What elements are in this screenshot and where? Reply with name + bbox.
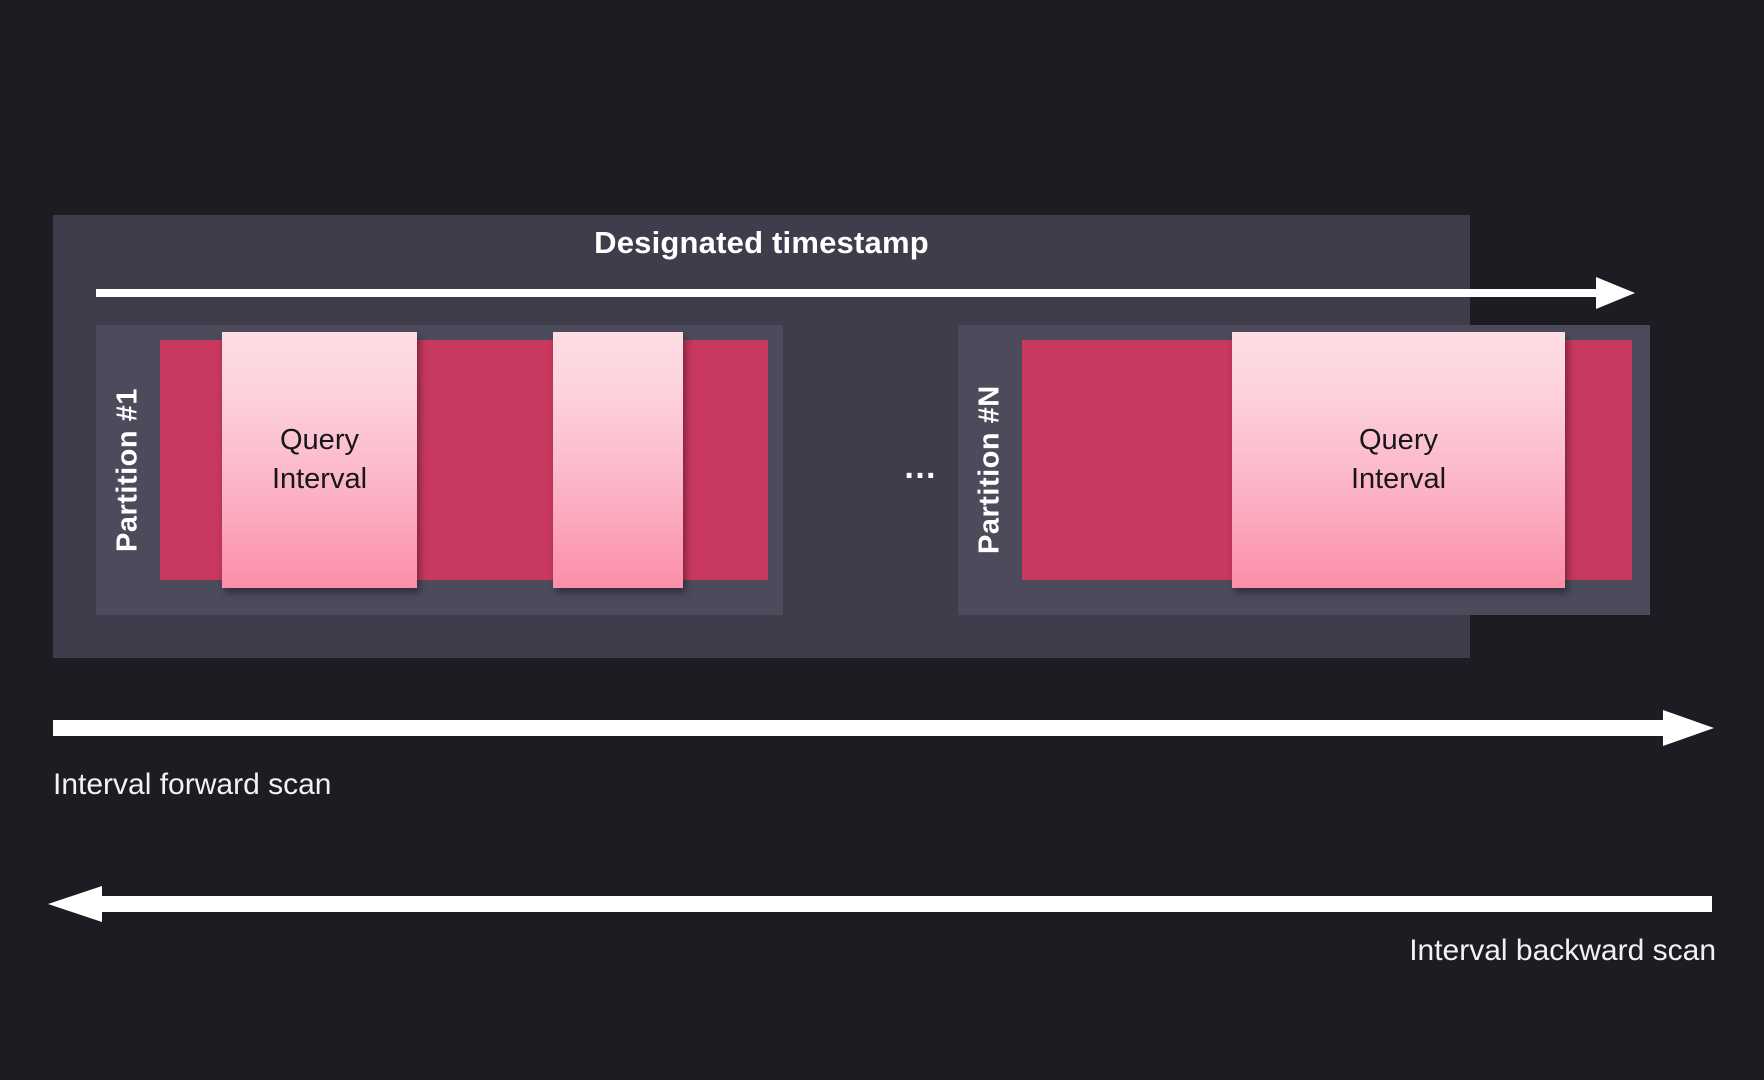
partition-1-band-dark-3 <box>683 340 768 580</box>
partitions-ellipsis: … <box>870 450 970 484</box>
designated-timestamp-arrow-right-icon <box>96 277 1635 309</box>
query-interval-line1: Query <box>1359 421 1438 460</box>
partition-1-query-interval-label: Query Interval <box>222 332 417 588</box>
query-interval-line1: Query <box>280 421 359 460</box>
partition-1: Partition #1 Query Interval <box>96 325 783 615</box>
interval-forward-scan-label: Interval forward scan <box>53 768 331 802</box>
partition-1-label: Partition #1 <box>96 325 160 615</box>
interval-forward-scan-arrow-right-icon <box>53 710 1714 746</box>
partition-n: Partition #N Query Interval <box>958 325 1650 615</box>
page-title: Designated timestamp <box>53 225 1470 261</box>
partition-n-query-interval-label: Query Interval <box>1232 332 1565 588</box>
query-interval-line2: Interval <box>272 460 367 499</box>
designated-timestamp-panel: Designated timestamp Partition #1 Query … <box>53 215 1470 658</box>
partition-n-band-dark-2 <box>1565 340 1632 580</box>
partition-n-band-dark-1 <box>1022 340 1232 580</box>
diagram-canvas: Designated timestamp Partition #1 Query … <box>0 0 1764 1080</box>
partition-n-bands: Query Interval <box>1022 340 1632 580</box>
partition-1-interval-band-2 <box>553 332 683 588</box>
partition-1-band-dark-1 <box>160 340 222 580</box>
partition-1-bands: Query Interval <box>160 340 768 580</box>
partition-1-query-interval-band: Query Interval <box>222 332 417 588</box>
interval-backward-scan-label: Interval backward scan <box>0 934 1716 968</box>
interval-backward-scan-arrow-left-icon <box>48 886 1712 922</box>
partition-1-band-dark-2 <box>417 340 553 580</box>
query-interval-line2: Interval <box>1351 460 1446 499</box>
partition-n-label: Partition #N <box>958 325 1022 615</box>
partition-n-query-interval-band: Query Interval <box>1232 332 1565 588</box>
